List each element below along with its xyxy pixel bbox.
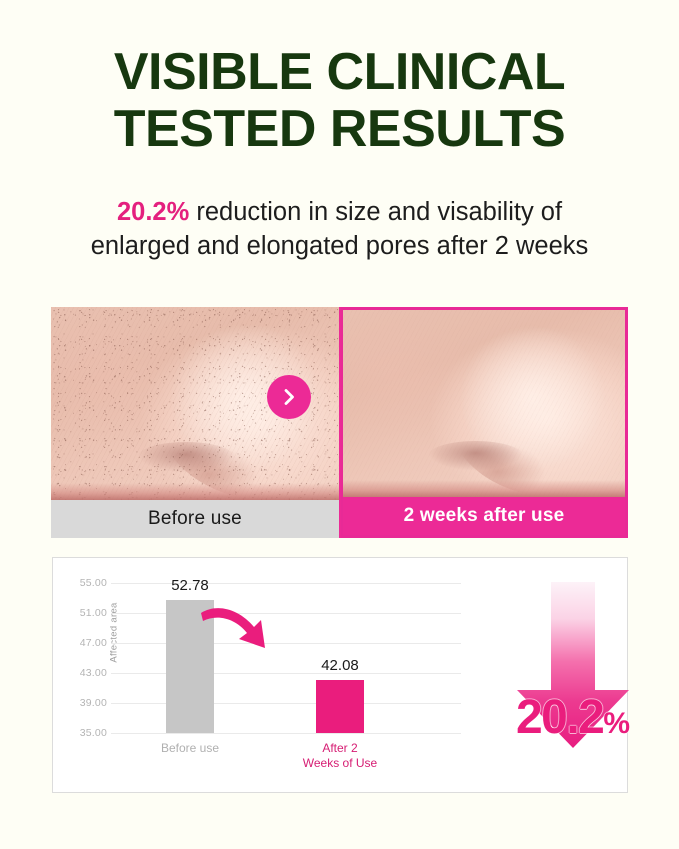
category-label-after: After 2 Weeks of Use	[270, 741, 410, 771]
y-axis-tick: 47.00	[63, 637, 107, 649]
category-label-after-line-2: Weeks of Use	[303, 756, 377, 770]
category-label-after-line-1: After 2	[322, 741, 357, 755]
after-caption: 2 weeks after use	[343, 497, 625, 535]
skin-fine-lines	[343, 310, 625, 497]
before-after-comparison: Before use 2 weeks after use	[51, 307, 628, 538]
page-title: VISIBLE CLINICAL TESTED RESULTS	[0, 44, 679, 157]
category-label-before: Before use	[120, 741, 260, 756]
big-reduction-percentage: 20.2%	[473, 690, 673, 745]
chart-y-axis-label: Affected area	[109, 588, 120, 678]
before-pane: Before use	[51, 307, 339, 538]
y-axis-tick: 51.00	[63, 607, 107, 619]
bar-value-after: 42.08	[280, 657, 400, 674]
subtitle-line-1-rest: reduction in size and visability of	[189, 198, 562, 226]
curved-decrease-arrow-icon	[199, 601, 289, 661]
y-axis-tick: 55.00	[63, 577, 107, 589]
subtitle: 20.2% reduction in size and visability o…	[0, 196, 679, 264]
big-reduction-stat: 20.2%	[473, 578, 673, 774]
chart-plot-area: Affected area 55.00 51.00 47.00 43.00 39…	[111, 583, 461, 733]
y-axis-tick: 43.00	[63, 667, 107, 679]
subtitle-percentage: 20.2%	[117, 198, 189, 226]
gridline	[111, 733, 461, 734]
y-axis-tick: 39.00	[63, 697, 107, 709]
lip-edge	[343, 480, 625, 497]
before-caption: Before use	[51, 500, 339, 538]
big-reduction-value: 20.2	[516, 691, 603, 744]
results-chart-card: Affected area 55.00 51.00 47.00 43.00 39…	[52, 557, 628, 793]
after-pane: 2 weeks after use	[340, 307, 628, 538]
gridline	[111, 703, 461, 704]
comparison-divider	[339, 307, 341, 538]
subtitle-line-1: 20.2% reduction in size and visability o…	[0, 196, 679, 230]
page-title-line-1: VISIBLE CLINICAL	[0, 44, 679, 101]
big-reduction-symbol: %	[603, 707, 630, 740]
after-photo	[343, 310, 625, 497]
lip-edge	[51, 483, 339, 500]
page-title-line-2: TESTED RESULTS	[0, 101, 679, 158]
bar-value-before: 52.78	[130, 577, 250, 594]
chevron-right-icon[interactable]	[267, 375, 311, 419]
subtitle-line-2: enlarged and elongated pores after 2 wee…	[0, 230, 679, 264]
y-axis-tick: 35.00	[63, 727, 107, 739]
bar-after-2-weeks	[316, 680, 364, 733]
category-label-before-line-1: Before use	[161, 741, 219, 755]
